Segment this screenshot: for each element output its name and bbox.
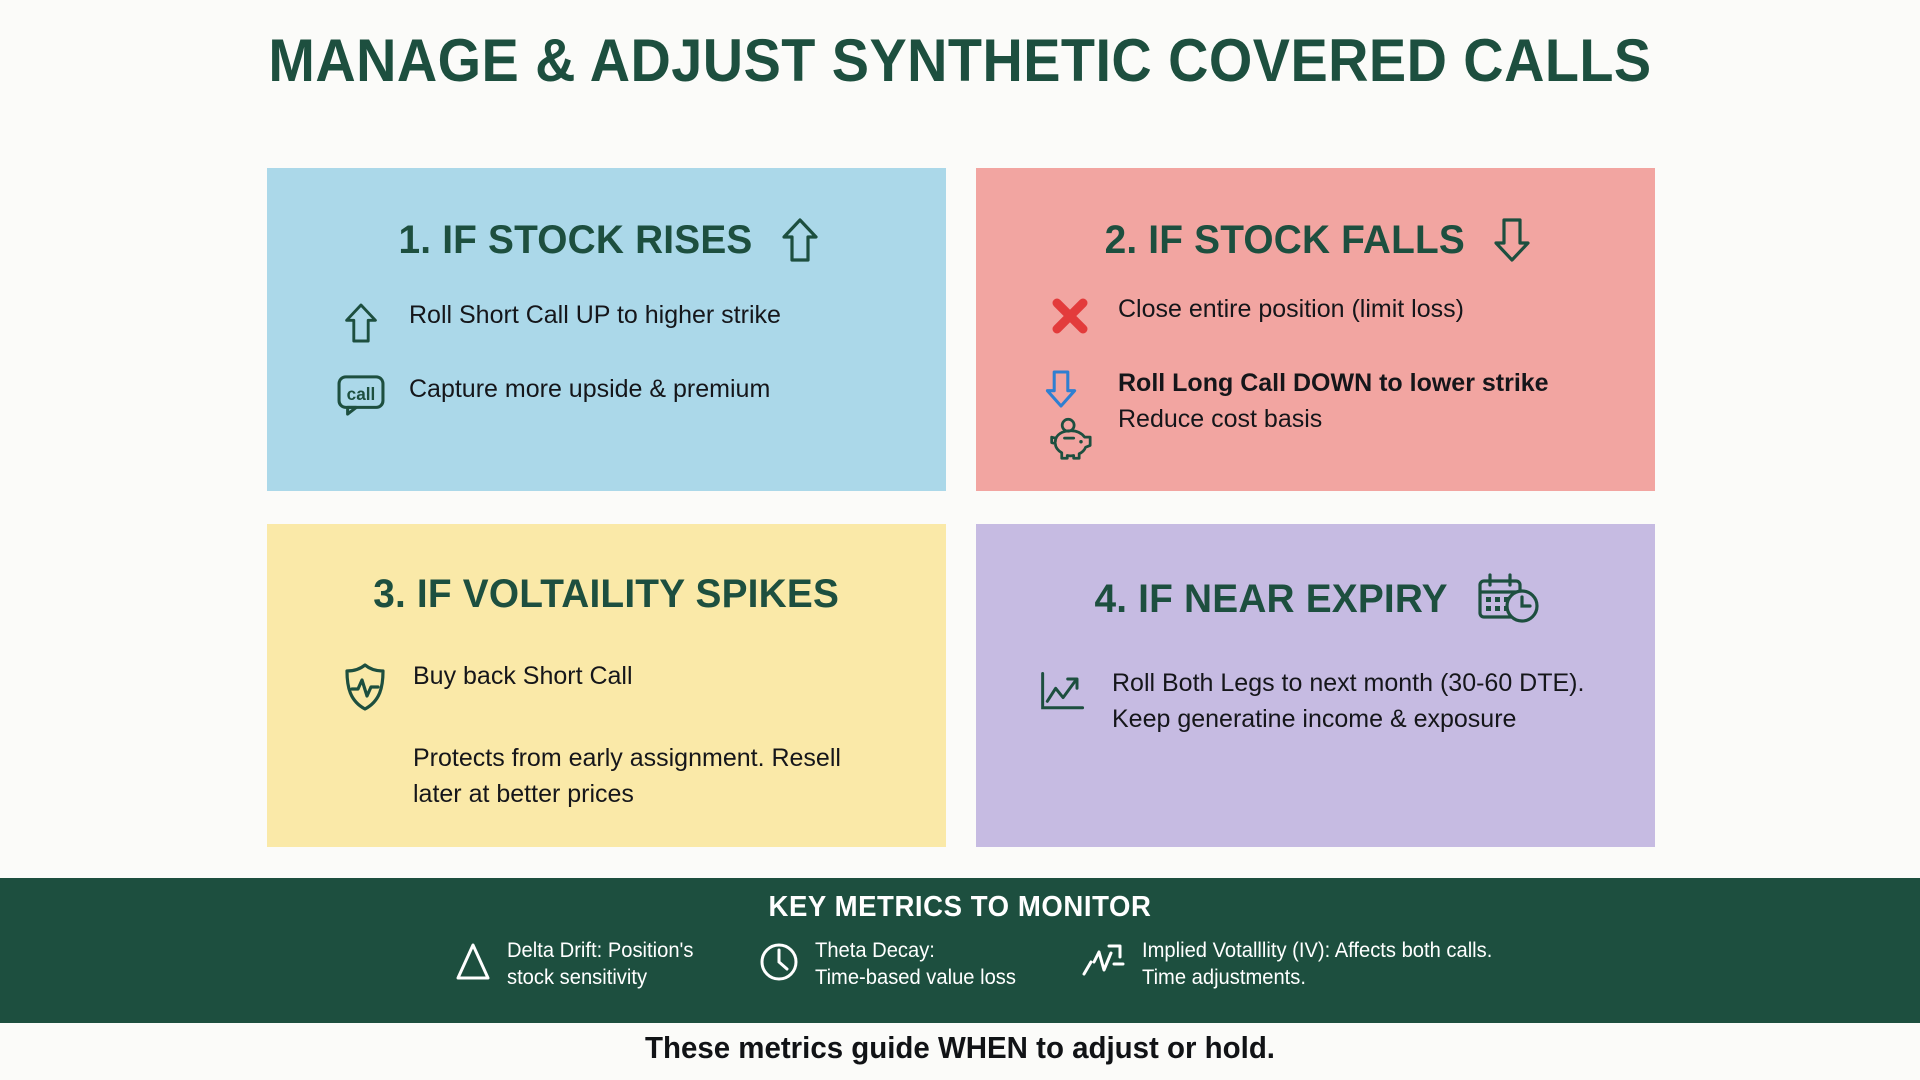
arrow-up-icon xyxy=(780,216,820,264)
card-heading: 2. IF STOCK FALLS xyxy=(976,216,1655,264)
card-heading: 4. IF NEAR EXPIRY xyxy=(976,572,1655,626)
arrow-down-blue-icon xyxy=(1044,368,1078,415)
list-item: Protects from early assignment. Resell l… xyxy=(339,741,886,812)
clock-icon xyxy=(757,938,801,989)
arrow-down-icon xyxy=(1492,216,1532,264)
footer-caption: These metrics guide WHEN to adjust or ho… xyxy=(48,1030,1872,1066)
shield-pulse-icon xyxy=(339,659,391,713)
key-metrics-band: KEY METRICS TO MONITOR Delta Drift: Posi… xyxy=(0,878,1920,1023)
list-item: Roll Long Call DOWN to lower strike Redu… xyxy=(1044,366,1637,466)
metric-label: Theta Decay: Time-based value loss xyxy=(815,938,1016,992)
card-body: Buy back Short Call Protects from early … xyxy=(267,659,946,812)
calendar-clock-icon xyxy=(1476,572,1542,626)
card-heading-label: 1. IF STOCK RISES xyxy=(398,218,752,263)
card-if-stock-falls: 2. IF STOCK FALLS Close entire position … xyxy=(976,168,1655,491)
list-item-label: Close entire position (limit loss) xyxy=(1118,292,1464,328)
metric-delta-drift: Delta Drift: Position's stock sensitivit… xyxy=(453,938,701,992)
list-item-label: Capture more upside & premium xyxy=(409,372,770,408)
spacer-icon xyxy=(339,741,391,743)
card-heading-label: 2. IF STOCK FALLS xyxy=(1104,218,1464,263)
card-heading-label: 4. IF NEAR EXPIRY xyxy=(1095,577,1448,622)
svg-text:call: call xyxy=(347,384,376,404)
card-if-stock-rises: 1. IF STOCK RISES Roll Short Call UP to … xyxy=(267,168,946,491)
card-if-volatility-spikes: 3. IF VOLTAILITY SPIKES Buy back Short C… xyxy=(267,524,946,847)
key-metrics-title: KEY METRICS TO MONITOR xyxy=(48,878,1872,924)
metric-line-1: Theta Decay: xyxy=(815,939,935,962)
list-item-strong: Roll Both Legs to next month (30-60 DTE)… xyxy=(1112,666,1584,702)
card-body: Close entire position (limit loss) xyxy=(976,292,1655,466)
metric-line-1: Delta Drift: Position's xyxy=(507,939,693,962)
metric-line-2: Time-based value loss xyxy=(815,966,1016,989)
list-item: Roll Short Call UP to higher strike xyxy=(335,298,914,346)
metric-implied-volatility: Implied Votalllity (IV): Affects both ca… xyxy=(1080,938,1507,992)
card-heading-label: 3. IF VOLTAILITY SPIKES xyxy=(374,572,840,617)
card-heading: 3. IF VOLTAILITY SPIKES xyxy=(267,572,946,617)
metric-label: Delta Drift: Position's stock sensitivit… xyxy=(507,938,693,992)
card-body: Roll Short Call UP to higher strike call… xyxy=(267,298,946,416)
call-badge-icon: call xyxy=(335,372,387,416)
metric-line-2: Time adjustments. xyxy=(1142,966,1306,989)
volatility-chart-icon xyxy=(1080,938,1128,989)
metric-theta-decay: Theta Decay: Time-based value loss xyxy=(757,938,1024,992)
list-item: call Capture more upside & premium xyxy=(335,372,914,416)
cross-x-icon xyxy=(1044,292,1096,338)
metric-line-2: stock sensitivity xyxy=(507,966,647,989)
list-item: Roll Both Legs to next month (30-60 DTE)… xyxy=(1038,666,1625,737)
scenario-card-grid: 1. IF STOCK RISES Roll Short Call UP to … xyxy=(267,168,1655,847)
page-title: MANAGE & ADJUST SYNTHETIC COVERED CALLS xyxy=(67,26,1853,97)
list-item-label: Roll Short Call UP to higher strike xyxy=(409,298,781,334)
metric-label: Implied Votalllity (IV): Affects both ca… xyxy=(1142,938,1492,992)
list-item-label: Protects from early assignment. Resell l… xyxy=(413,741,886,812)
list-item-label: Buy back Short Call xyxy=(413,659,633,695)
list-item-label: Roll Both Legs to next month (30-60 DTE)… xyxy=(1112,666,1584,737)
key-metrics-list: Delta Drift: Position's stock sensitivit… xyxy=(0,938,1920,992)
card-body: Roll Both Legs to next month (30-60 DTE)… xyxy=(976,666,1655,737)
triangle-delta-icon xyxy=(453,938,493,989)
arrow-up-icon xyxy=(335,298,387,346)
card-if-near-expiry: 4. IF NEAR EXPIRY xyxy=(976,524,1655,847)
list-item-strong: Roll Long Call DOWN to lower strike xyxy=(1118,366,1549,402)
list-item: Close entire position (limit loss) xyxy=(1044,292,1637,338)
line-chart-up-icon xyxy=(1038,666,1090,716)
list-item: Buy back Short Call xyxy=(339,659,886,713)
card-heading: 1. IF STOCK RISES xyxy=(267,216,946,264)
list-item-sub: Keep generatine income & exposure xyxy=(1112,702,1584,738)
piggy-bank-icon xyxy=(1044,417,1096,466)
roll-down-icon-group xyxy=(1044,366,1096,466)
list-item-sub: Reduce cost basis xyxy=(1118,402,1549,438)
metric-line-1: Implied Votalllity (IV): Affects both ca… xyxy=(1142,939,1492,962)
list-item-label: Roll Long Call DOWN to lower strike Redu… xyxy=(1118,366,1549,437)
